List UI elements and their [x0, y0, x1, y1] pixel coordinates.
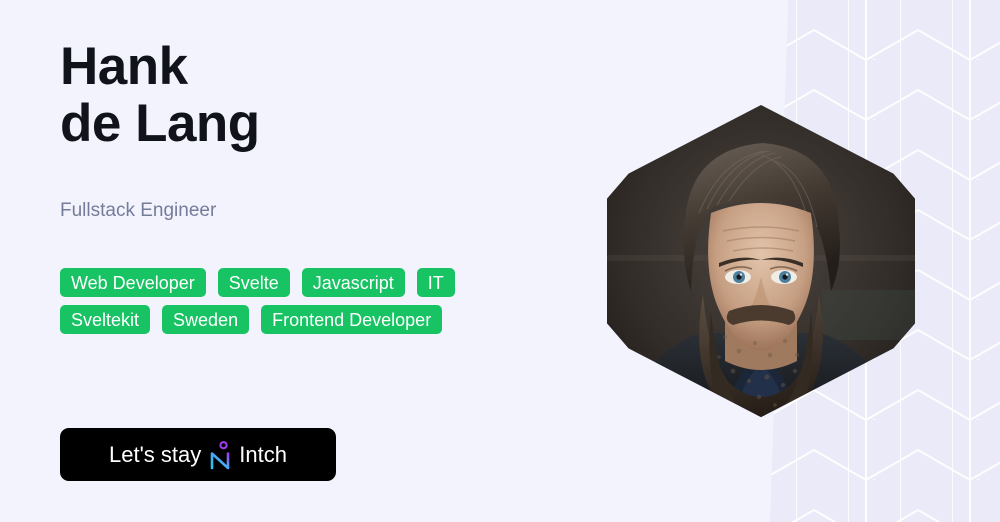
- avatar-photo: [607, 105, 915, 417]
- profile-details: Hank de Lang Fullstack Engineer Web Deve…: [60, 0, 580, 522]
- tag-item[interactable]: Javascript: [302, 268, 405, 297]
- tag-item[interactable]: Svelte: [218, 268, 290, 297]
- tag-list: Web Developer Svelte Javascript IT Svelt…: [60, 268, 530, 334]
- tag-item[interactable]: Web Developer: [60, 268, 206, 297]
- cta-label-before: Let's stay: [109, 442, 201, 468]
- lets-stay-intch-button[interactable]: Let's stay Intch: [60, 428, 336, 481]
- profile-card: Hank de Lang Fullstack Engineer Web Deve…: [0, 0, 1000, 522]
- tag-item[interactable]: Frontend Developer: [261, 305, 442, 334]
- tag-item[interactable]: IT: [417, 268, 455, 297]
- page-title: Hank de Lang: [60, 38, 260, 152]
- avatar: [607, 105, 915, 417]
- profile-role: Fullstack Engineer: [60, 198, 216, 224]
- cta-label-after: Intch: [239, 442, 287, 468]
- tag-item[interactable]: Sweden: [162, 305, 249, 334]
- tag-item[interactable]: Sveltekit: [60, 305, 150, 334]
- intch-logo-icon: [208, 441, 232, 471]
